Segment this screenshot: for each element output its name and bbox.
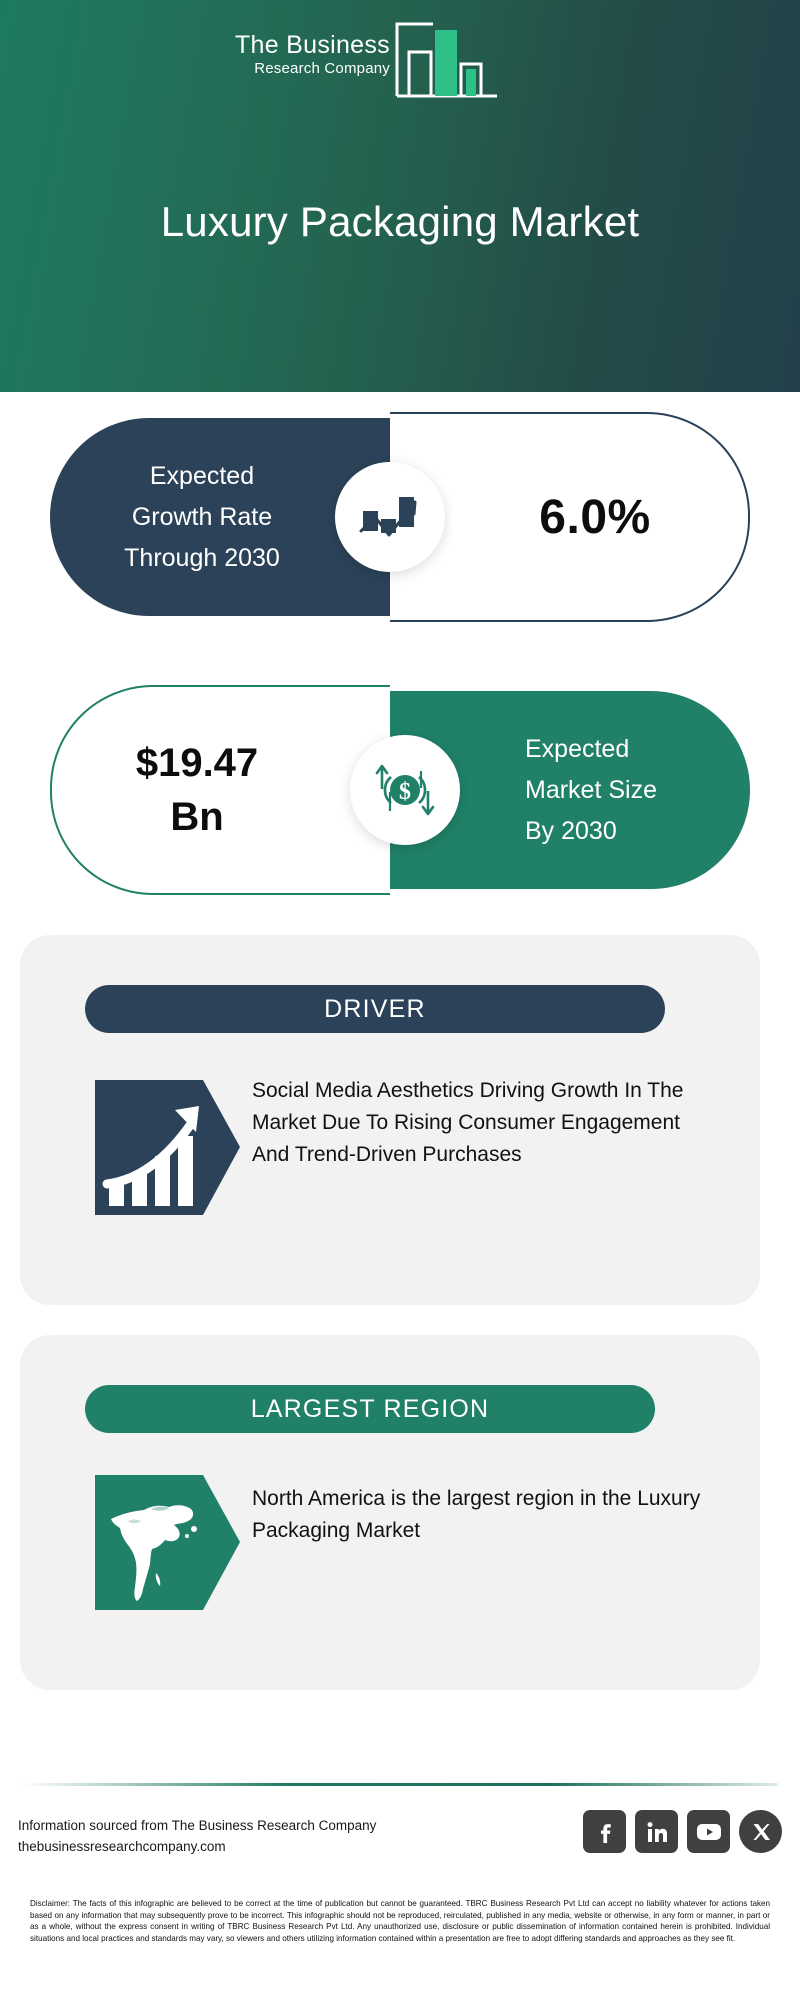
driver-body-text: Social Media Aesthetics Driving Growth I… [252,1075,722,1171]
stat-card-market-size-label: Expected Market Size By 2030 [483,729,657,852]
footer-divider [22,1783,778,1786]
market-size-label-line-3: By 2030 [525,811,657,852]
largest-region-panel: LARGEST REGION North America is the larg… [20,1335,760,1690]
growth-bar-chart-arrow-icon [95,1080,240,1215]
growth-label-line-3: Through 2030 [124,538,280,579]
driver-pill: DRIVER [85,985,665,1033]
stat-card-growth-rate-value: 6.0% [487,490,650,545]
page-title: Luxury Packaging Market [0,198,800,246]
company-logo: The Business Research Company [215,22,500,97]
source-line-2[interactable]: thebusinessresearchcompany.com [18,1836,376,1857]
facebook-icon[interactable] [583,1810,626,1853]
driver-panel: DRIVER Social Media Aesthetics Driving G… [20,935,760,1305]
social-links [583,1810,782,1853]
linkedin-icon[interactable] [635,1810,678,1853]
stat-card-market-size-value-panel: $19.47 Bn [50,685,390,895]
largest-region-pill: LARGEST REGION [85,1385,655,1433]
stat-card-market-size: $19.47 Bn Expected Market Size By 2030 $ [50,685,750,895]
growth-label-line-1: Expected [124,456,280,497]
dollar-exchange-icon: $ [350,735,460,845]
stat-card-growth-rate: Expected Growth Rate Through 2030 6.0% [50,412,750,622]
stat-card-growth-rate-label: Expected Growth Rate Through 2030 [124,456,316,579]
bar-chart-logo-mark [393,22,501,105]
market-size-value-line-1: $19.47 [136,736,258,790]
source-attribution: Information sourced from The Business Re… [18,1815,376,1857]
market-size-label-line-2: Market Size [525,770,657,811]
source-line-1: Information sourced from The Business Re… [18,1815,376,1836]
x-twitter-icon[interactable] [739,1810,782,1853]
logo-line-2: Research Company [215,59,390,78]
infographic-header: The Business Research Company Luxury Pac… [0,0,800,392]
growth-chart-arrow-icon [335,462,445,572]
north-america-map-icon [95,1475,240,1610]
growth-label-line-2: Growth Rate [124,497,280,538]
youtube-icon[interactable] [687,1810,730,1853]
largest-region-pill-label: LARGEST REGION [251,1395,490,1424]
logo-wordmark: The Business Research Company [215,32,390,78]
disclaimer-text: Disclaimer: The facts of this infographi… [30,1898,770,1944]
market-size-label-line-1: Expected [525,729,657,770]
logo-line-1: The Business [215,32,390,59]
market-size-value-line-2: Bn [136,790,258,844]
stat-card-market-size-value: $19.47 Bn [136,736,306,844]
largest-region-body-text: North America is the largest region in t… [252,1483,722,1547]
svg-text:$: $ [399,779,411,805]
driver-pill-label: DRIVER [324,995,426,1024]
